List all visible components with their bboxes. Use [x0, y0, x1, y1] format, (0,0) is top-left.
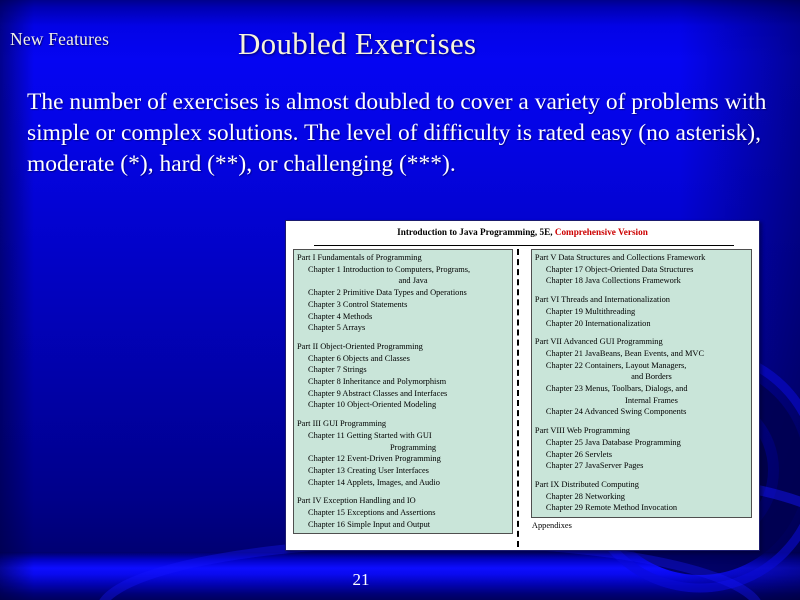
- toc-entry: Part III GUI Programming: [297, 418, 509, 430]
- toc-entry: Chapter 29 Remote Method Invocation: [535, 502, 748, 514]
- slide-canvas: New Features Doubled Exercises The numbe…: [0, 0, 800, 600]
- toc-entry: Chapter 3 Control Statements: [297, 299, 509, 311]
- toc-image-card: Introduction to Java Programming, 5E, Co…: [285, 220, 760, 551]
- page-number: 21: [0, 570, 800, 590]
- toc-entry: Chapter 19 Multithreading: [535, 306, 748, 318]
- toc-entry: Part VI Threads and Internationalization: [535, 294, 748, 306]
- toc-entry: and Java: [297, 275, 509, 287]
- toc-left-panel: Part I Fundamentals of ProgrammingChapte…: [293, 249, 513, 534]
- toc-entry: Chapter 25 Java Database Programming: [535, 437, 748, 449]
- toc-header-title: Introduction to Java Programming, 5E,: [397, 227, 552, 237]
- toc-entry: Chapter 28 Networking: [535, 491, 748, 503]
- toc-entry: Chapter 11 Getting Started with GUI: [297, 430, 509, 442]
- toc-entry: Chapter 16 Simple Input and Output: [297, 519, 509, 531]
- toc-entry: Chapter 18 Java Collections Framework: [535, 275, 748, 287]
- toc-entry: Programming: [297, 442, 509, 454]
- toc-entry: Part VIII Web Programming: [535, 425, 748, 437]
- toc-header: Introduction to Java Programming, 5E, Co…: [286, 227, 759, 237]
- toc-entry: Chapter 5 Arrays: [297, 322, 509, 334]
- toc-entry: Chapter 2 Primitive Data Types and Opera…: [297, 287, 509, 299]
- toc-columns: Part I Fundamentals of ProgrammingChapte…: [293, 249, 752, 547]
- toc-entry: Chapter 6 Objects and Classes: [297, 353, 509, 365]
- toc-entry: Chapter 12 Event-Driven Programming: [297, 453, 509, 465]
- toc-entry: Chapter 1 Introduction to Computers, Pro…: [297, 264, 509, 276]
- toc-right-column: Part V Data Structures and Collections F…: [531, 249, 752, 547]
- toc-entry: Internal Frames: [535, 395, 748, 407]
- toc-entry: Chapter 22 Containers, Layout Managers,: [535, 360, 748, 372]
- toc-entry: Part V Data Structures and Collections F…: [535, 252, 748, 264]
- toc-entry: Part I Fundamentals of Programming: [297, 252, 509, 264]
- toc-header-rule: [314, 245, 734, 246]
- toc-left-column: Part I Fundamentals of ProgrammingChapte…: [293, 249, 513, 547]
- toc-entry: Chapter 24 Advanced Swing Components: [535, 406, 748, 418]
- slide-kicker: New Features: [10, 29, 109, 50]
- toc-entry: Chapter 9 Abstract Classes and Interface…: [297, 388, 509, 400]
- page-title: Doubled Exercises: [238, 26, 476, 62]
- toc-entry: Chapter 13 Creating User Interfaces: [297, 465, 509, 477]
- toc-entry: Part VII Advanced GUI Programming: [535, 336, 748, 348]
- toc-column-divider: [517, 249, 528, 547]
- toc-entry: Part II Object-Oriented Programming: [297, 341, 509, 353]
- toc-entry: Part IX Distributed Computing: [535, 479, 748, 491]
- toc-header-edition: Comprehensive Version: [555, 227, 648, 237]
- toc-entry: Chapter 14 Applets, Images, and Audio: [297, 477, 509, 489]
- toc-entry: Chapter 21 JavaBeans, Bean Events, and M…: [535, 348, 748, 360]
- toc-entry: Chapter 27 JavaServer Pages: [535, 460, 748, 472]
- toc-entry: Chapter 10 Object-Oriented Modeling: [297, 399, 509, 411]
- toc-entry: Chapter 17 Object-Oriented Data Structur…: [535, 264, 748, 276]
- toc-entry: and Borders: [535, 371, 748, 383]
- toc-entry: Chapter 15 Exceptions and Assertions: [297, 507, 509, 519]
- toc-entry: Chapter 4 Methods: [297, 311, 509, 323]
- toc-entry: Part IV Exception Handling and IO: [297, 495, 509, 507]
- toc-appendix-label: Appendixes: [531, 518, 752, 532]
- toc-entry: Chapter 26 Servlets: [535, 449, 748, 461]
- slide-body-text: The number of exercises is almost double…: [27, 87, 775, 180]
- toc-entry: Chapter 8 Inheritance and Polymorphism: [297, 376, 509, 388]
- toc-entry: Chapter 23 Menus, Toolbars, Dialogs, and: [535, 383, 748, 395]
- toc-right-panel: Part V Data Structures and Collections F…: [531, 249, 752, 518]
- toc-entry: Chapter 7 Strings: [297, 364, 509, 376]
- toc-entry: Chapter 20 Internationalization: [535, 318, 748, 330]
